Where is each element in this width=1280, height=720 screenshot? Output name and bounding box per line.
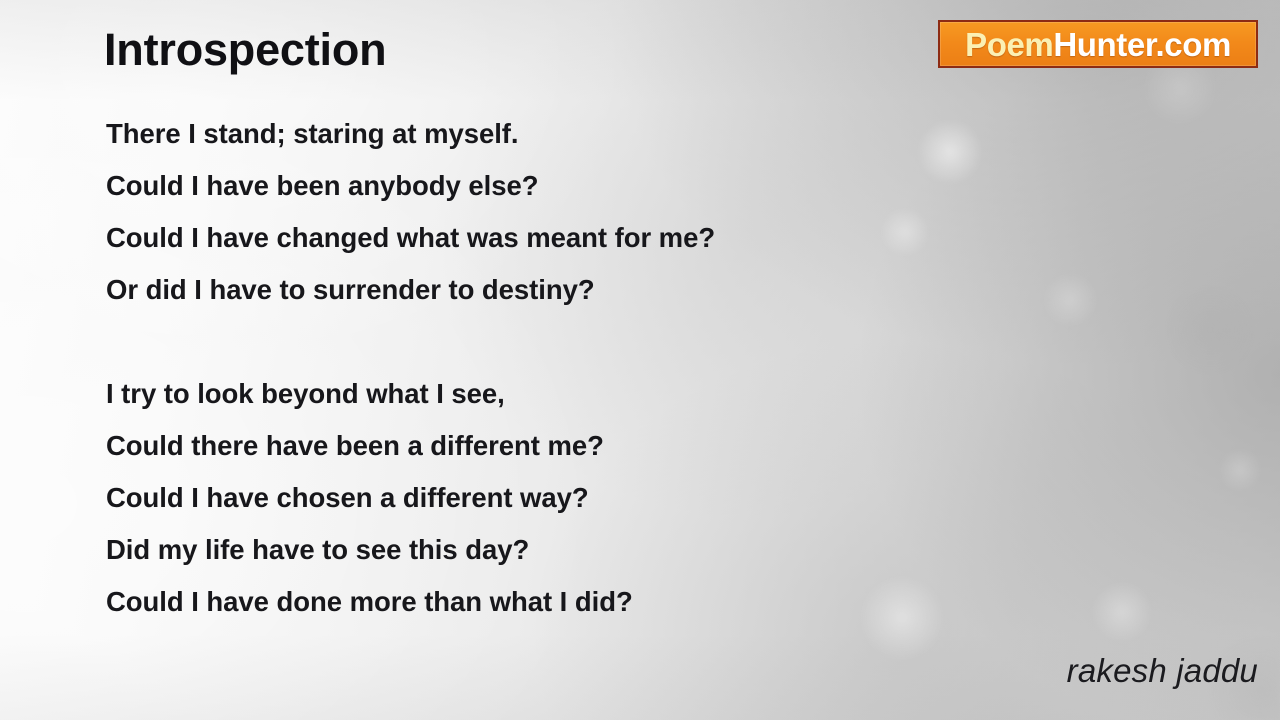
poem-line: Did my life have to see this day?: [106, 524, 1006, 576]
poem-line: Could I have chosen a different way?: [106, 472, 1006, 524]
poem-card: Introspection There I stand; staring at …: [0, 0, 1280, 720]
poem-line: I try to look beyond what I see,: [106, 368, 1006, 420]
poem-body: There I stand; staring at myself. Could …: [106, 108, 1006, 628]
logo-word-dotcom: .com: [1155, 26, 1230, 63]
poem-line: Or did I have to surrender to destiny?: [106, 264, 1006, 316]
poemhunter-logo-text: PoemHunter.com: [965, 28, 1231, 61]
poem-line: Could there have been a different me?: [106, 420, 1006, 472]
poem-line: There I stand; staring at myself.: [106, 108, 1006, 160]
logo-word-hunter: Hunter: [1053, 26, 1155, 63]
card-content: Introspection There I stand; staring at …: [0, 0, 1280, 720]
poem-line: Could I have done more than what I did?: [106, 576, 1006, 628]
logo-word-poem: Poem: [965, 26, 1053, 63]
poem-author: rakesh jaddu: [1067, 652, 1258, 690]
page-title: Introspection: [104, 26, 386, 73]
poemhunter-logo[interactable]: PoemHunter.com: [938, 20, 1258, 68]
poem-line: Could I have been anybody else?: [106, 160, 1006, 212]
poem-line: Could I have changed what was meant for …: [106, 212, 1006, 264]
poem-stanza-break: [106, 316, 1006, 368]
